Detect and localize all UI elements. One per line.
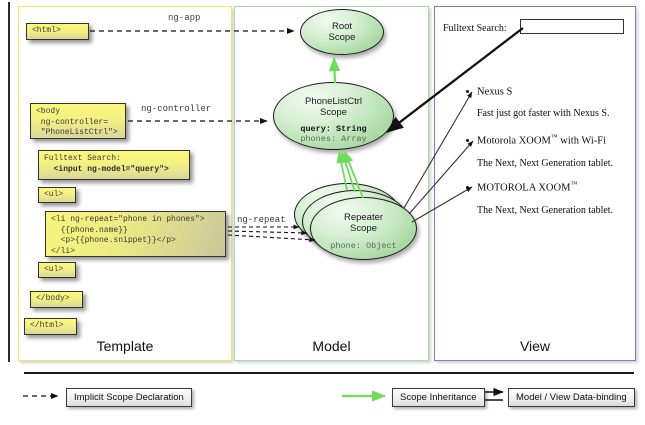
search-box-line1: Fulltext Search:	[44, 154, 121, 163]
diagram-root: Template Model View <html> <body ng-cont…	[0, 0, 645, 425]
ellipse-repeater-scope: Repeater Scope phone: Object	[310, 197, 417, 260]
legend-item-implicit-scope-declaration: Implicit Scope Declaration	[66, 388, 192, 407]
ctrl-scope-prop-query: query: String	[274, 124, 393, 134]
panel-label-model: Model	[235, 338, 428, 354]
ellipse-root-scope: Root Scope	[300, 9, 384, 55]
ctrl-scope-line2: Scope	[274, 107, 393, 118]
repeater-scope-line1: Repeater	[311, 212, 416, 223]
code-box-li-repeat: <li ng-repeat="phone in phones"> {{phone…	[45, 211, 226, 257]
view-item-name-2: Motorola XOOM™ with Wi-Fi	[477, 133, 606, 147]
edge-label-ng-repeat: ng-repeat	[237, 215, 286, 225]
ellipse-phonelistctrl-scope: PhoneListCtrl Scope query: String phones…	[273, 82, 394, 150]
legend-item-scope-inheritance: Scope Inheritance	[392, 388, 485, 407]
view-item-name-3: MOTOROLA XOOM™	[477, 180, 577, 194]
code-box-body-close: </body>	[30, 291, 83, 308]
repeater-scope-prop-phone: phone: Object	[311, 241, 416, 251]
view-item-snippet-3: The Next, Next Generation tablet.	[477, 205, 613, 216]
legend-item-model-view-data-binding: Model / View Data-binding	[508, 388, 635, 407]
code-box-search-input: Fulltext Search: <input ng-model="query"…	[38, 150, 190, 180]
root-scope-line1: Root	[301, 21, 383, 32]
legend-divider	[24, 372, 634, 374]
view-item-name-1: Nexus S	[477, 84, 512, 98]
code-box-ul-close: <ul>	[38, 262, 76, 278]
code-box-ul-open: <ul>	[38, 187, 76, 203]
edge-label-ng-app: ng-app	[168, 13, 200, 23]
repeater-scope-line2: Scope	[311, 223, 416, 234]
ctrl-scope-prop-phones: phones: Array	[274, 134, 393, 144]
panel-label-view: View	[435, 338, 635, 354]
panel-label-template: Template	[19, 338, 231, 354]
ctrl-scope-line1: PhoneListCtrl	[274, 96, 393, 107]
view-item-snippet-1: Fast just got faster with Nexus S.	[477, 108, 610, 119]
search-box-line2: <input ng-model="query">	[54, 165, 169, 174]
code-box-html-open: <html>	[26, 23, 89, 40]
code-box-html-close: </html>	[24, 318, 77, 335]
view-item-snippet-2: The Next, Next Generation tablet.	[477, 158, 613, 169]
view-search-label: Fulltext Search:	[443, 23, 507, 34]
code-box-body-open: <body ng-controller= "PhoneListCtrl">	[30, 103, 126, 139]
edge-label-ng-controller: ng-controller	[141, 104, 211, 114]
root-scope-line2: Scope	[301, 32, 383, 43]
view-search-input[interactable]	[520, 19, 624, 34]
